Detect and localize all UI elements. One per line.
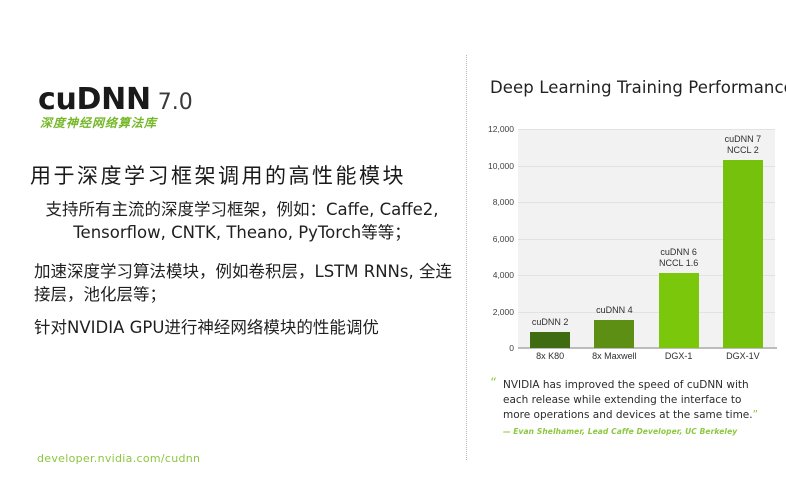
chart-bar: cuDNN 2	[530, 332, 570, 348]
quote-body: NVIDIA has improved the speed of cuDNN w…	[503, 379, 753, 421]
body-paragraph-1: 支持所有主流的深度学习框架，例如：Caffe, Caffe2, Tensorfl…	[24, 198, 460, 245]
chart-bar-value-label: cuDNN 7 NCCL 2	[701, 134, 785, 157]
chart-x-tick-label: 8x K80	[518, 351, 582, 361]
product-subtitle: 深度神经网络算法库	[40, 114, 157, 131]
quote-close-mark: ”	[753, 409, 758, 421]
chart-y-tick-label: 4,000	[452, 275, 514, 285]
quote-text: NVIDIA has improved the speed of cuDNN w…	[503, 378, 770, 423]
chart-bar: cuDNN 7 NCCL 2	[723, 160, 763, 348]
product-title-main: cuDNN	[38, 82, 151, 117]
quote-open-mark: “	[490, 376, 497, 391]
slide-root: cuDNN7.0 深度神经网络算法库 用于深度学习框架调用的高性能模块 支持所有…	[0, 0, 786, 479]
left-panel: cuDNN7.0 深度神经网络算法库 用于深度学习框架调用的高性能模块 支持所有…	[0, 0, 466, 479]
chart-bar-value-label: cuDNN 2	[508, 317, 592, 328]
chart-bar-rect	[530, 332, 570, 348]
chart-bar: cuDNN 6 NCCL 1.6	[659, 273, 699, 348]
chart-x-tick-label: 8x Maxwell	[582, 351, 646, 361]
chart-y-tick-label: 8,000	[452, 202, 514, 212]
body-paragraph-2: 加速深度学习算法模块，例如卷积层，LSTM RNNs, 全连接层，池化层等；	[34, 260, 454, 307]
headline: 用于深度学习框架调用的高性能模块	[30, 160, 460, 190]
chart-y-tick-label: 0	[452, 348, 514, 358]
right-panel: Deep Learning Training Performance 02,00…	[466, 0, 786, 479]
testimonial-quote: “ NVIDIA has improved the speed of cuDNN…	[490, 378, 770, 436]
product-title: cuDNN7.0	[38, 82, 193, 117]
chart-y-tick-label: 2,000	[452, 312, 514, 322]
chart-x-tick-label: DGX-1V	[711, 351, 775, 361]
chart-bar: cuDNN 4	[594, 320, 634, 348]
chart-y-tick-label: 12,000	[452, 129, 514, 139]
chart-bar-rect	[659, 273, 699, 348]
chart-bar-rect	[594, 320, 634, 348]
chart-bar-value-label: cuDNN 4	[572, 305, 656, 316]
chart-x-tick-label: DGX-1	[647, 351, 711, 361]
footer-url-link[interactable]: developer.nvidia.com/cudnn	[37, 452, 200, 465]
chart-y-tick-label: 6,000	[452, 239, 514, 249]
chart-y-tick-label: 10,000	[452, 166, 514, 176]
quote-attribution: — Evan Shelhamer, Lead Caffe Developer, …	[503, 427, 770, 436]
chart-bar-value-label: cuDNN 6 NCCL 1.6	[637, 247, 721, 270]
product-title-version: 7.0	[158, 90, 193, 115]
chart-bar-rect	[723, 160, 763, 348]
body-paragraph-3: 针对NVIDIA GPU进行神经网络模块的性能调优	[34, 316, 454, 339]
